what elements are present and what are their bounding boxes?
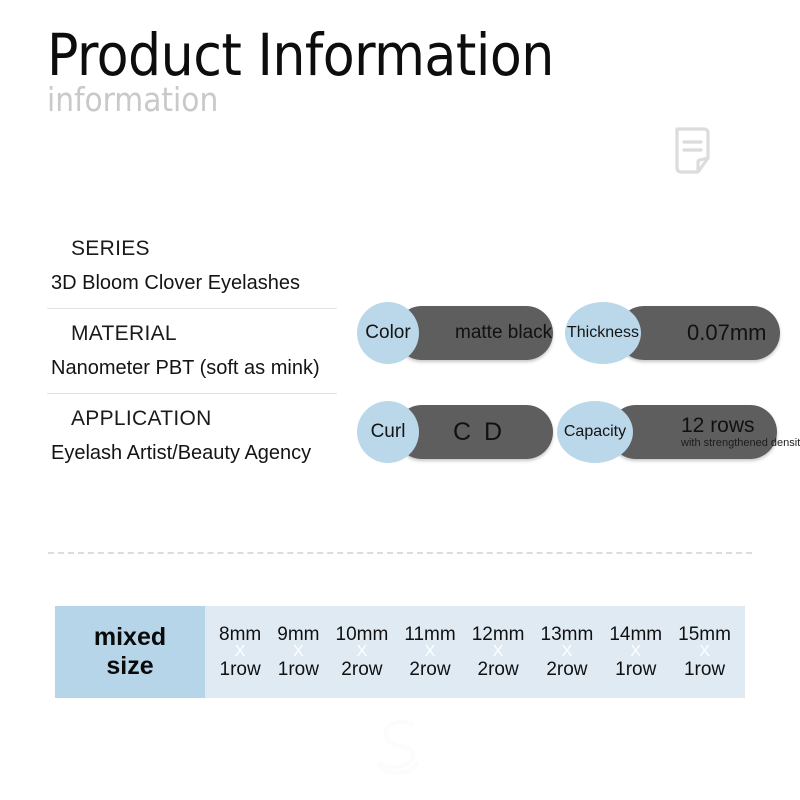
document-note-icon: [672, 126, 716, 176]
badge-capacity-key: Capacity: [564, 423, 626, 441]
badge-color-circle: Color: [357, 302, 419, 364]
badge-row-2: C D Curl 12 rows with strengthened densi…: [357, 401, 777, 463]
badge-curl-value: C D: [453, 419, 505, 445]
size-cell-rows: 2row: [409, 660, 450, 679]
spec-block-application: APPLICATION Eyelash Artist/Beauty Agency: [45, 406, 345, 467]
badge-color-key: Color: [365, 322, 410, 344]
spec-label-application: APPLICATION: [45, 406, 345, 432]
size-cell-rows: 1row: [278, 660, 319, 679]
size-cell: 9mmX1row: [277, 625, 319, 679]
size-cell-length: 15mm: [678, 625, 731, 644]
size-cell: 13mmX2row: [541, 625, 594, 679]
mixed-size-label-line2: size: [106, 652, 153, 681]
badge-curl-key: Curl: [371, 421, 406, 443]
spec-value-material: Nanometer PBT (soft as mink): [45, 354, 345, 382]
size-cell-rows: 2row: [341, 660, 382, 679]
spec-label-material: MATERIAL: [45, 321, 345, 347]
size-cell-multiply-icon: X: [425, 645, 436, 659]
badge-thickness-pill: 0.07mm: [617, 306, 780, 360]
badge-capacity-pill: 12 rows with strengthened density: [609, 405, 777, 459]
spec-divider: [47, 308, 337, 309]
specification-list: SERIES 3D Bloom Clover Eyelashes MATERIA…: [45, 236, 345, 467]
size-cell-multiply-icon: X: [357, 645, 368, 659]
size-cell-multiply-icon: X: [235, 645, 246, 659]
size-cell: 15mmX1row: [678, 625, 731, 679]
badge-capacity-value-main: 12 rows: [681, 415, 800, 437]
size-cell: 12mmX2row: [472, 625, 525, 679]
size-cell-multiply-icon: X: [562, 645, 573, 659]
spec-block-series: SERIES 3D Bloom Clover Eyelashes: [45, 236, 345, 297]
badge-row-1: matte black Color 0.07mm Thickness: [357, 302, 777, 364]
spec-divider: [47, 393, 337, 394]
section-dashed-divider: [48, 552, 752, 554]
size-cell-multiply-icon: X: [493, 645, 504, 659]
size-cell-rows: 1row: [684, 660, 725, 679]
badge-color-value: matte black: [455, 323, 552, 343]
spec-value-application: Eyelash Artist/Beauty Agency: [45, 439, 345, 467]
size-cell-length: 11mm: [404, 625, 455, 644]
badge-capacity-value: 12 rows with strengthened density: [681, 415, 800, 449]
mixed-size-grid: 8mmX1row9mmX1row10mmX2row11mmX2row12mmX2…: [205, 606, 745, 698]
spec-label-series: SERIES: [45, 236, 345, 262]
page-header: Product Information information: [47, 24, 747, 118]
size-cell-rows: 2row: [478, 660, 519, 679]
page-title: Product Information: [47, 24, 747, 86]
mixed-size-label: mixed size: [55, 606, 205, 698]
size-cell: 14mmX1row: [609, 625, 662, 679]
badge-capacity-circle: Capacity: [557, 401, 633, 463]
badge-curl-circle: Curl: [357, 401, 419, 463]
size-cell-length: 13mm: [541, 625, 594, 644]
size-cell-length: 9mm: [277, 625, 319, 644]
size-cell: 11mmX2row: [404, 625, 455, 679]
badge-thickness-circle: Thickness: [565, 302, 641, 364]
size-cell-multiply-icon: X: [699, 645, 710, 659]
size-cell: 8mmX1row: [219, 625, 261, 679]
size-cell-rows: 1row: [220, 660, 261, 679]
size-cell-length: 14mm: [609, 625, 662, 644]
product-information-page: Product Information information SERIES 3…: [0, 0, 800, 800]
badge-thickness-value: 0.07mm: [687, 321, 766, 344]
size-cell-rows: 1row: [615, 660, 656, 679]
size-cell-length: 8mm: [219, 625, 261, 644]
size-cell-length: 12mm: [472, 625, 525, 644]
size-cell-multiply-icon: X: [630, 645, 641, 659]
attribute-badge-grid: matte black Color 0.07mm Thickness C D: [357, 302, 777, 500]
badge-thickness-key: Thickness: [567, 324, 639, 342]
size-cell-length: 10mm: [336, 625, 389, 644]
badge-capacity-value-sub: with strengthened density: [681, 437, 800, 449]
size-cell: 10mmX2row: [336, 625, 389, 679]
mixed-size-table: mixed size 8mmX1row9mmX1row10mmX2row11mm…: [55, 606, 745, 698]
mixed-size-label-line1: mixed: [94, 623, 166, 652]
spec-block-material: MATERIAL Nanometer PBT (soft as mink): [45, 321, 345, 382]
background-watermark: [355, 714, 445, 786]
spec-value-series: 3D Bloom Clover Eyelashes: [45, 269, 345, 297]
size-cell-multiply-icon: X: [293, 645, 304, 659]
size-cell-rows: 2row: [546, 660, 587, 679]
